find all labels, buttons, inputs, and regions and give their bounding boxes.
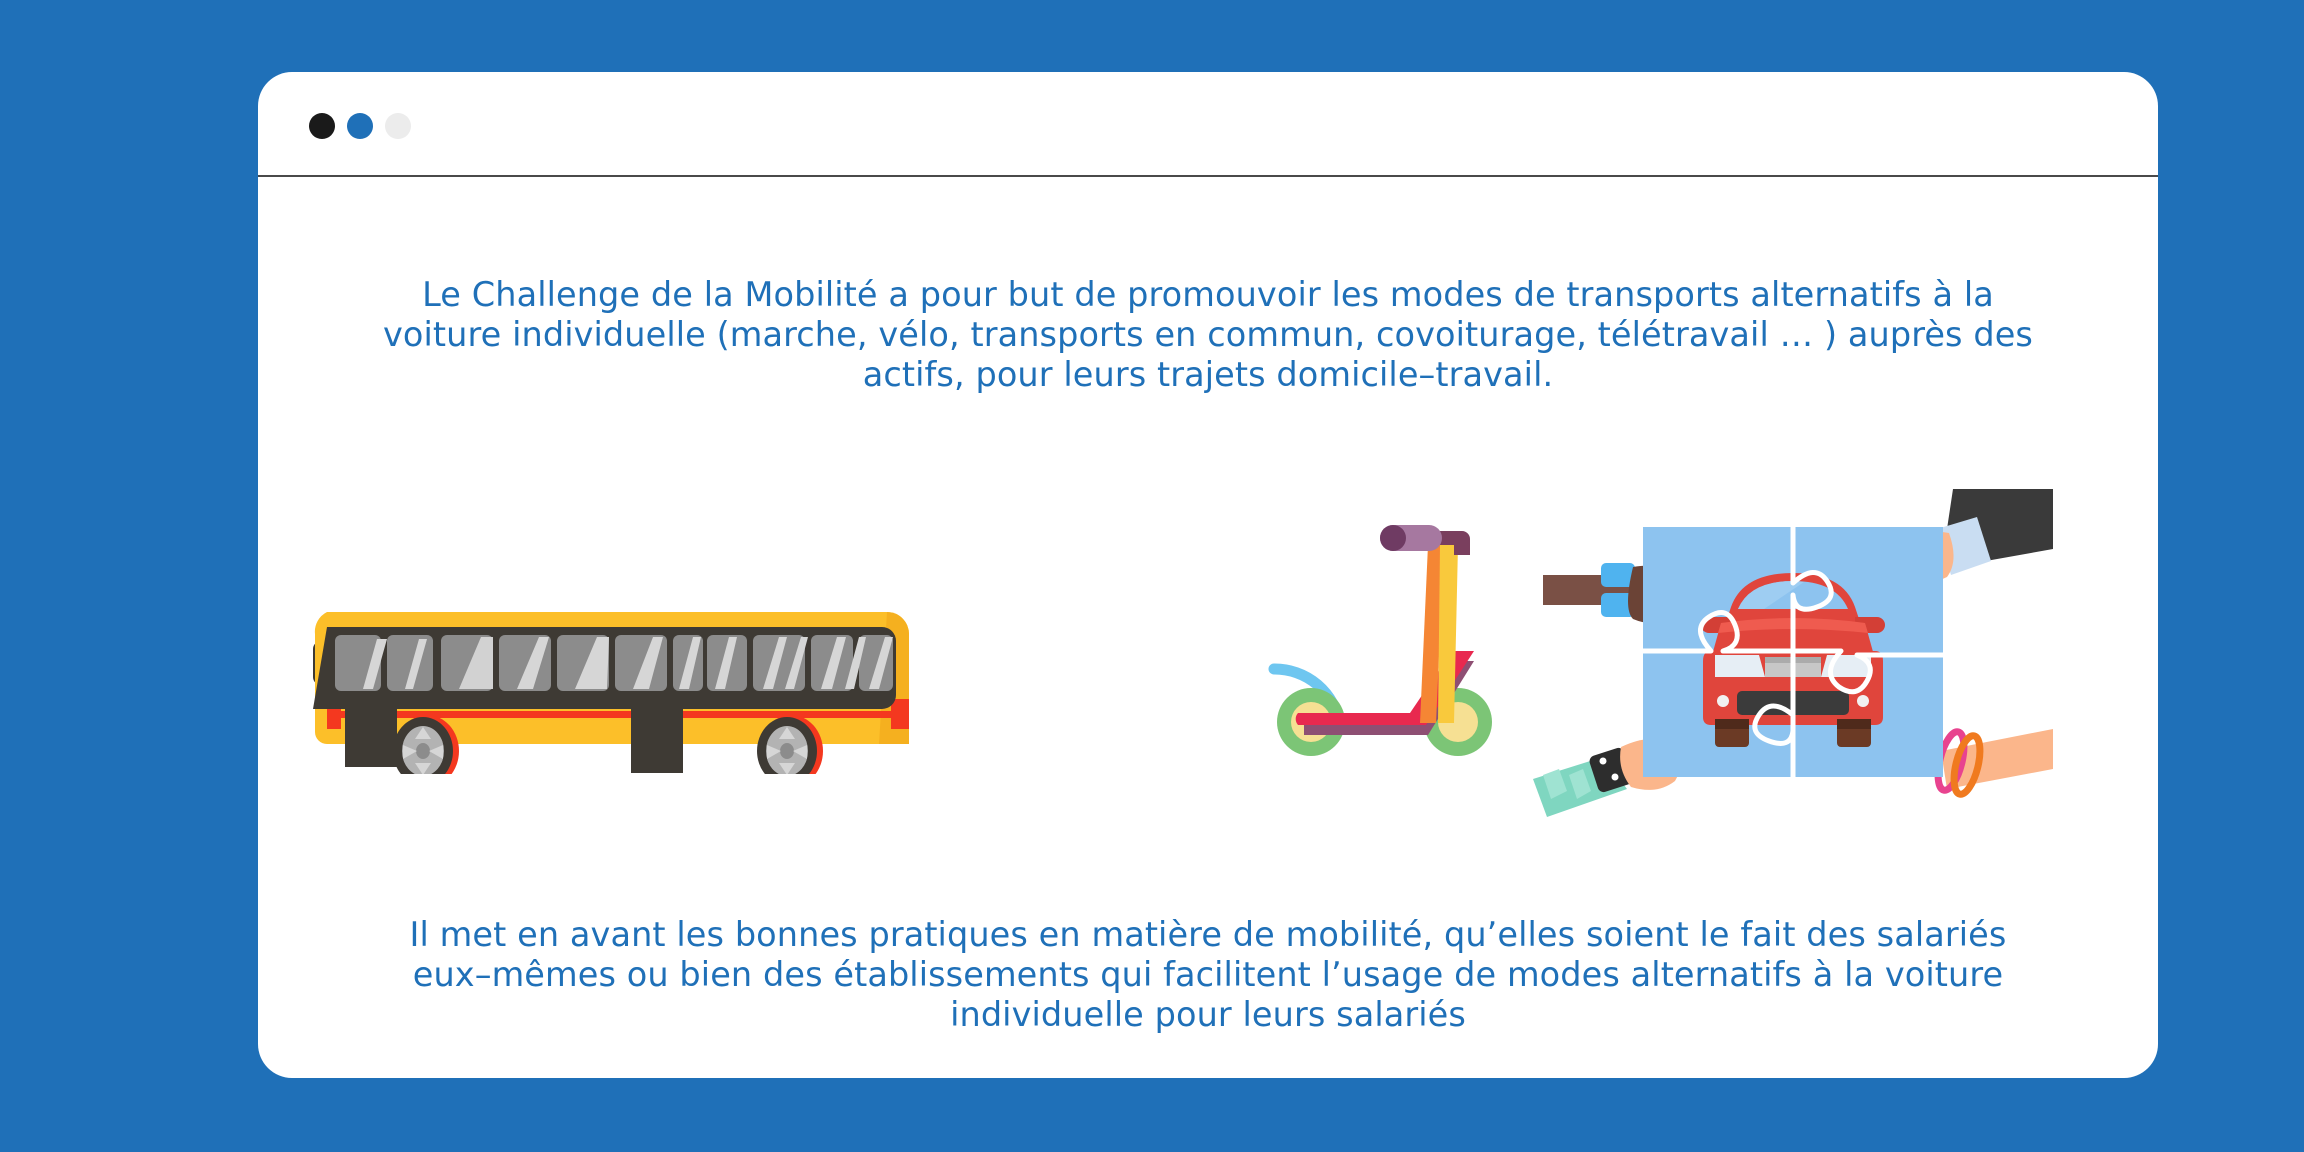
browser-card: Le Challenge de la Mobilité a pour but d… — [258, 72, 2158, 1078]
minimize-dot[interactable] — [347, 113, 373, 139]
illustration-row — [258, 489, 2158, 839]
window-controls — [309, 113, 411, 139]
scooter-illustration — [1268, 509, 1518, 783]
carpool-puzzle-illustration — [1533, 489, 2053, 823]
card-content: Le Challenge de la Mobilité a pour but d… — [258, 179, 2158, 1078]
puzzle-board — [1643, 527, 1943, 777]
bus-illustration — [283, 599, 923, 778]
maximize-dot[interactable] — [385, 113, 411, 139]
intro-paragraph: Le Challenge de la Mobilité a pour but d… — [378, 275, 2038, 395]
outro-paragraph: Il met en avant les bonnes pratiques en … — [378, 915, 2038, 1035]
window-titlebar — [258, 72, 2158, 177]
close-dot[interactable] — [309, 113, 335, 139]
